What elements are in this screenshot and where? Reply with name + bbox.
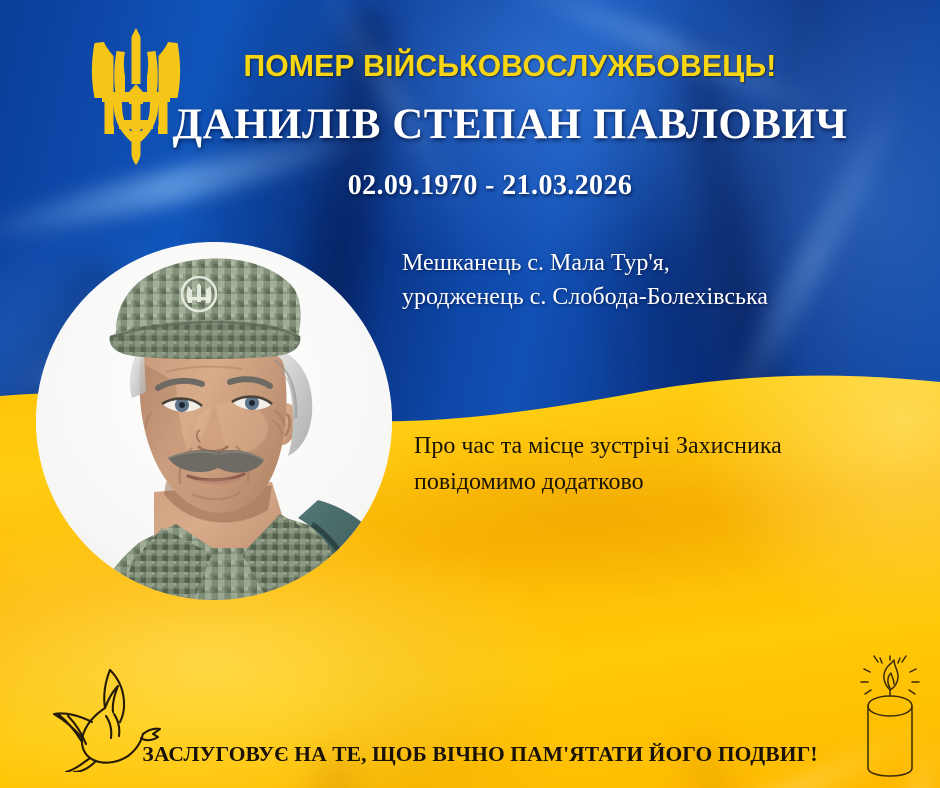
funeral-notice-block: Про час та місце зустрічі Захисника пові… xyxy=(414,428,884,500)
portrait-photo-circle xyxy=(36,242,392,600)
page-headline: ПОМЕР ВІЙСЬКОВОСЛУЖБОВЕЦЬ! xyxy=(190,48,830,84)
deceased-full-name: ДАНИЛІВ СТЕПАН ПАВЛОВИЧ xyxy=(150,100,870,149)
residence-line-1: Мешканець с. Мала Тур'я, xyxy=(402,246,872,280)
notice-line-2: повідомимо додатково xyxy=(414,464,884,500)
residence-line-2: уродженець с. Слобода-Болехівська xyxy=(402,280,872,314)
life-dates: 02.09.1970 - 21.03.2026 xyxy=(180,170,800,202)
notice-line-1: Про час та місце зустрічі Захисника xyxy=(414,428,884,464)
candle-icon xyxy=(848,654,932,778)
memorial-poster: ПОМЕР ВІЙСЬКОВОСЛУЖБОВЕЦЬ! ДАНИЛІВ СТЕПА… xyxy=(0,0,940,788)
portrait-photo xyxy=(36,242,392,600)
residence-text-block: Мешканець с. Мала Тур'я, уродженець с. С… xyxy=(402,246,872,314)
footer-tribute-text: ЗАСЛУГОВУЄ НА ТЕ, ЩОБ ВІЧНО ПАМ'ЯТАТИ ЙО… xyxy=(100,742,860,767)
